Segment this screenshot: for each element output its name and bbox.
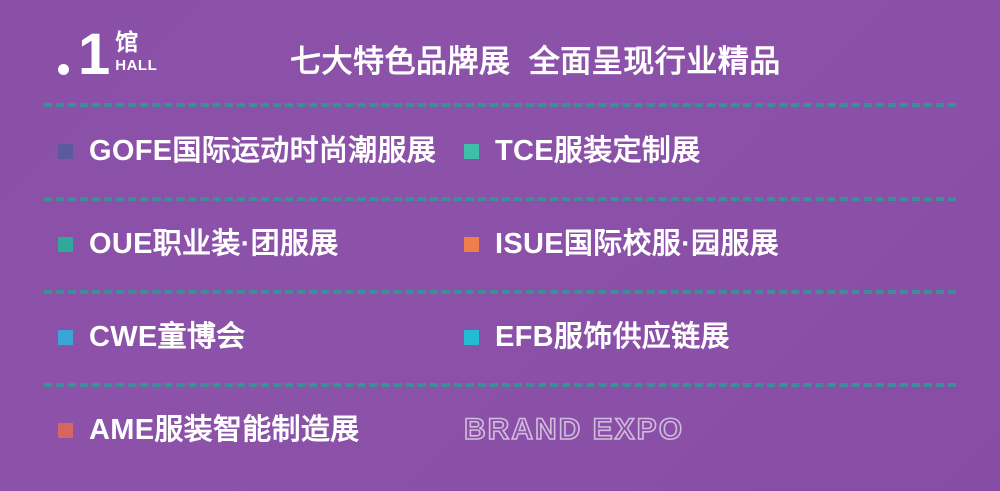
brand-item-oue[interactable]: OUE职业装·团服展 <box>0 227 440 261</box>
square-bullet-icon <box>58 330 73 345</box>
poster-header: 1 馆 HALL 七大特色品牌展 全面呈现行业精品 <box>0 0 1000 104</box>
brand-expo-watermark: BRAND EXPO <box>440 413 900 447</box>
brand-item-label: EFB服饰供应链展 <box>495 320 730 354</box>
brand-item-tce[interactable]: TCE服装定制展 <box>440 134 900 168</box>
brand-row: AME服装智能制造展 BRAND EXPO <box>0 383 1000 476</box>
brand-item-cwe[interactable]: CWE童博会 <box>0 320 440 354</box>
brand-row: CWE童博会 EFB服饰供应链展 <box>0 290 1000 383</box>
brand-item-label: OUE职业装·团服展 <box>89 227 339 261</box>
square-bullet-icon <box>464 330 479 345</box>
brand-item-label: GOFE国际运动时尚潮服展 <box>89 134 436 168</box>
square-bullet-icon <box>58 144 73 159</box>
brand-list: GOFE国际运动时尚潮服展 TCE服装定制展 OUE职业装·团服展 ISUE国际… <box>0 104 1000 476</box>
brand-item-gofe[interactable]: GOFE国际运动时尚潮服展 <box>0 134 440 168</box>
square-bullet-icon <box>58 237 73 252</box>
brand-row: OUE职业装·团服展 ISUE国际校服·园服展 <box>0 197 1000 290</box>
square-bullet-icon <box>464 144 479 159</box>
square-bullet-icon <box>58 423 73 438</box>
hall-label-stack: 馆 HALL <box>115 30 157 74</box>
hall-number: 1 <box>78 26 109 84</box>
brand-expo-text: BRAND EXPO <box>464 413 684 447</box>
brand-item-isue[interactable]: ISUE国际校服·园服展 <box>440 227 900 261</box>
brand-item-label: CWE童博会 <box>89 320 245 354</box>
brand-item-ame[interactable]: AME服装智能制造展 <box>0 413 440 447</box>
hall-logo: 1 馆 HALL <box>58 26 157 88</box>
brand-item-efb[interactable]: EFB服饰供应链展 <box>440 320 900 354</box>
brand-row: GOFE国际运动时尚潮服展 TCE服装定制展 <box>0 104 1000 197</box>
hall-label-cn: 馆 <box>115 30 157 55</box>
brand-item-label: AME服装智能制造展 <box>89 413 359 447</box>
hall-label-en: HALL <box>115 57 157 74</box>
hall-dot-icon <box>58 64 69 75</box>
brand-item-label: TCE服装定制展 <box>495 134 700 168</box>
brand-expo-poster: 1 馆 HALL 七大特色品牌展 全面呈现行业精品 GOFE国际运动时尚潮服展 … <box>0 0 1000 491</box>
square-bullet-icon <box>464 237 479 252</box>
page-title: 七大特色品牌展 全面呈现行业精品 <box>290 44 781 80</box>
brand-item-label: ISUE国际校服·园服展 <box>495 227 779 261</box>
